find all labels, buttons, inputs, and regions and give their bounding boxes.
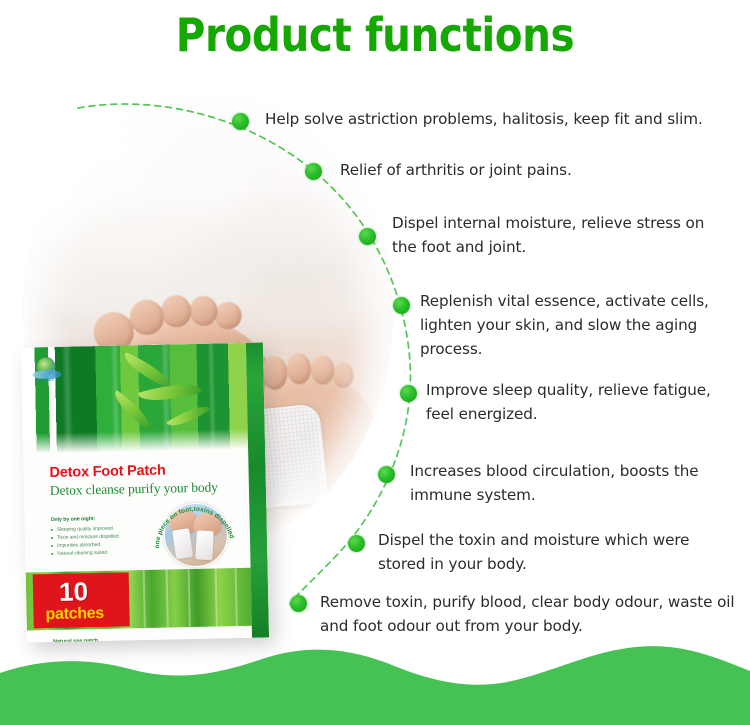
box-quantity-band: 10 patches: [26, 568, 252, 631]
bamboo-leaf: [166, 400, 210, 433]
quantity-red-block: 10 patches: [33, 572, 130, 628]
bullet-dot-2: [305, 163, 322, 180]
function-text-3: Dispel internal moisture, relieve stress…: [392, 211, 732, 259]
svg-text:one piece on foot,toxins dispe: one piece on foot,toxins dispelled: [153, 505, 235, 549]
bullet-dot-3: [359, 228, 376, 245]
function-text-4: Replenish vital essence, activate cells,…: [420, 289, 738, 361]
function-text-8: Remove toxin, purify blood, clear body o…: [320, 590, 740, 638]
box-circle-caption: one piece on foot,toxins dispelled: [152, 491, 238, 577]
bullet-dot-5: [400, 385, 417, 402]
artwork-fade: [23, 429, 248, 460]
product-package-box: KONGDY Detox Foot Patch Detox cleanse pu…: [21, 342, 269, 642]
quantity-number: 10: [59, 576, 89, 608]
function-text-7: Dispel the toxin and moisture which were…: [378, 528, 738, 576]
bullet-dot-8: [290, 595, 307, 612]
function-text-6: Increases blood circulation, boosts the …: [410, 459, 735, 507]
logo-wordmark: KONGDY: [36, 377, 55, 382]
box-feature-list: Only by one night: Sleeping quality impr…: [50, 515, 155, 558]
circle-caption-textpath: one piece on foot,toxins dispelled: [153, 505, 235, 549]
box-feature-item: Natural cleaning suited.: [51, 547, 155, 557]
page-title: Product functions: [45, 8, 705, 62]
box-circle-inset: one piece on foot,toxins dispelled: [152, 491, 238, 577]
quantity-unit: patches: [45, 605, 104, 624]
bamboo-leaf: [138, 377, 202, 409]
box-front-face: KONGDY Detox Foot Patch Detox cleanse pu…: [21, 343, 252, 643]
bullet-dot-4: [393, 297, 410, 314]
bullet-dot-7: [348, 535, 365, 552]
function-text-5: Improve sleep quality, relieve fatigue, …: [426, 378, 736, 426]
bottom-green-wave: [0, 635, 750, 725]
brand-logo-icon: KONGDY: [32, 357, 63, 384]
function-text-2: Relief of arthritis or joint pains.: [340, 158, 740, 182]
bullet-dot-1: [232, 113, 249, 130]
box-product-name: Detox Foot Patch: [49, 463, 165, 481]
product-functions-poster: Product functions Help solve astriction …: [0, 0, 750, 725]
function-text-1: Help solve astriction problems, halitosi…: [265, 107, 745, 131]
box-feature-heading: Only by one night:: [50, 515, 154, 523]
bullet-dot-6: [378, 466, 395, 483]
